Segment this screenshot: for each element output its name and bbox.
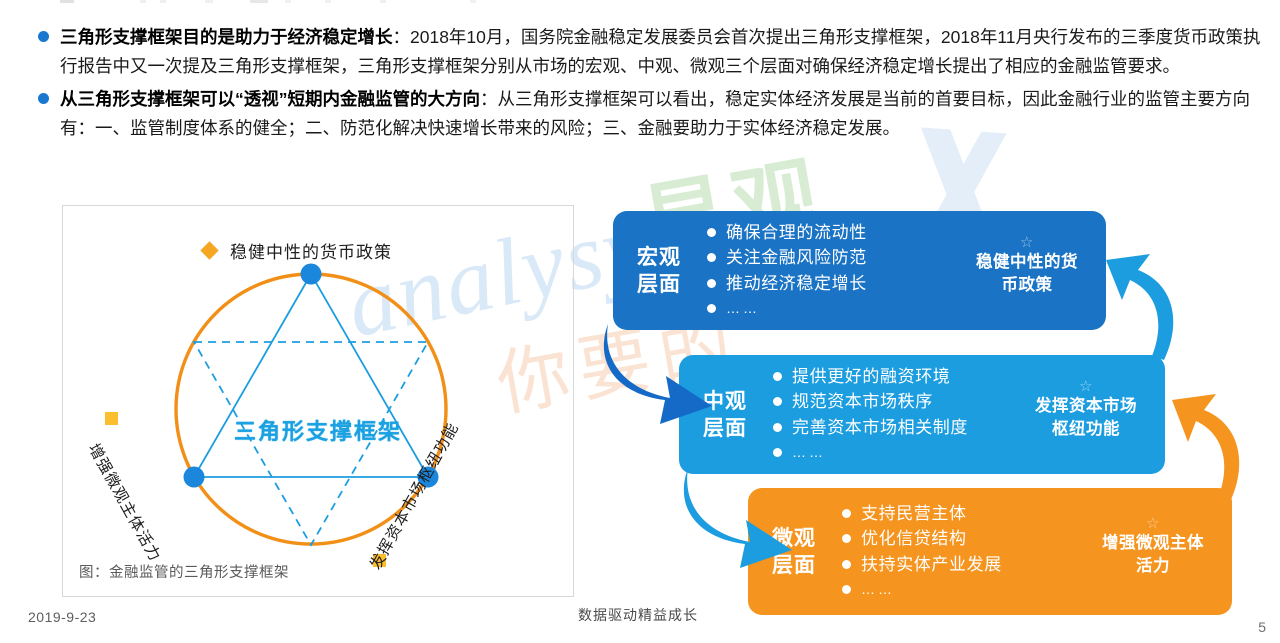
list-item: 确保合理的流动性 — [707, 220, 948, 246]
list-bullet-icon — [707, 279, 716, 288]
list-item: 扶持实体产业发展 — [842, 552, 1074, 578]
list-item: 支持民营主体 — [842, 501, 1074, 527]
top-divider — [0, 0, 1280, 3]
panel-macro[interactable]: 宏观 层面 确保合理的流动性 关注金融风险防范 推动经济稳定增长 …… ☆ 稳健… — [613, 211, 1106, 330]
arrow-micro-to-meso — [1168, 384, 1250, 506]
footer-tagline: 数据驱动精益成长 — [578, 605, 698, 625]
accent-square-left-icon — [105, 412, 118, 425]
bullet-text: 从三角形支撑框架可以“透视”短期内金融监管的大方向：从三角形支撑框架可以看出，稳… — [60, 85, 1263, 143]
list-item: 优化信贷结构 — [842, 526, 1074, 552]
star-icon: ☆ — [1146, 512, 1160, 535]
arrow-meso-to-macro — [1104, 244, 1184, 364]
list-item-label: 确保合理的流动性 — [726, 220, 867, 246]
panel-micro-key-line1: 增强微观主体 — [1074, 532, 1232, 555]
solid-triangle — [194, 274, 428, 477]
list-item-label: 推动经济稳定增长 — [726, 271, 867, 297]
list-item: 关注金融风险防范 — [707, 245, 948, 271]
list-item: …… — [842, 577, 1074, 603]
bullet-item: 从三角形支撑框架可以“透视”短期内金融监管的大方向：从三角形支撑框架可以看出，稳… — [38, 85, 1263, 143]
list-item: …… — [773, 440, 1007, 466]
bullet-dot-icon — [38, 93, 49, 104]
panel-meso-key-line1: 发挥资本市场 — [1007, 395, 1165, 418]
panel-macro-key: ☆ 稳健中性的货 币政策 — [948, 245, 1106, 297]
bullet-lead: 三角形支撑框架目的是助力于经济稳定增长 — [60, 27, 393, 47]
list-bullet-icon — [773, 423, 782, 432]
list-bullet-icon — [773, 448, 782, 457]
panel-macro-level-line2: 层面 — [619, 271, 699, 298]
bullet-lead: 从三角形支撑框架可以“透视”短期内金融监管的大方向 — [60, 89, 480, 109]
panel-meso-key: ☆ 发挥资本市场 枢纽功能 — [1007, 389, 1165, 441]
list-item: 完善资本市场相关制度 — [773, 415, 1007, 441]
list-bullet-icon — [707, 253, 716, 262]
panel-meso[interactable]: 中观 层面 提供更好的融资环境 规范资本市场秩序 完善资本市场相关制度 …… ☆… — [679, 355, 1165, 474]
list-item-label: …… — [726, 296, 760, 322]
arrow-meso-to-micro — [676, 462, 806, 574]
list-bullet-icon — [707, 304, 716, 313]
panel-micro-key: ☆ 增强微观主体 活力 — [1074, 526, 1232, 578]
figure-center-label: 三角形支撑框架 — [234, 414, 402, 446]
panel-macro-level: 宏观 层面 — [613, 244, 699, 298]
panel-macro-key-line1: 稳健中性的货 — [948, 251, 1106, 274]
list-bullet-icon — [707, 228, 716, 237]
list-item-label: 完善资本市场相关制度 — [792, 415, 968, 441]
star-icon: ☆ — [1020, 231, 1034, 254]
list-item: 推动经济稳定增长 — [707, 271, 948, 297]
bullet-text: 三角形支撑框架目的是助力于经济稳定增长：2018年10月，国务院金融稳定发展委员… — [60, 23, 1263, 81]
bullet-dot-icon — [38, 31, 49, 42]
list-item: 提供更好的融资环境 — [773, 364, 1007, 390]
panel-micro[interactable]: 微观 层面 支持民营主体 优化信贷结构 扶持实体产业发展 …… ☆ 增强微观主体… — [748, 488, 1232, 615]
panel-micro-items: 支持民营主体 优化信贷结构 扶持实体产业发展 …… — [834, 501, 1074, 603]
list-item-label: 规范资本市场秩序 — [792, 389, 933, 415]
list-item-label: 优化信贷结构 — [861, 526, 967, 552]
list-item: 规范资本市场秩序 — [773, 389, 1007, 415]
list-item-label: 支持民营主体 — [861, 501, 967, 527]
panel-macro-items: 确保合理的流动性 关注金融风险防范 推动经济稳定增长 …… — [699, 220, 948, 322]
figure-card: 稳健中性的货币政策 三角形支撑框架 增强微观主体活力 发挥资本市场枢纽功能 图：… — [62, 205, 574, 597]
list-bullet-icon — [842, 585, 851, 594]
list-item-label: 提供更好的融资环境 — [792, 364, 950, 390]
list-bullet-icon — [842, 560, 851, 569]
slide-canvas: analysys 易观 你要的 三角形支撑框架目的是助力于经济稳定增长：2018… — [0, 0, 1280, 643]
list-item-label: …… — [861, 577, 895, 603]
figure-caption: 图：金融监管的三角形支撑框架 — [79, 561, 289, 582]
panel-meso-items: 提供更好的融资环境 规范资本市场秩序 完善资本市场相关制度 …… — [765, 364, 1007, 466]
list-item-label: 关注金融风险防范 — [726, 245, 867, 271]
list-bullet-icon — [842, 534, 851, 543]
panel-macro-key-line2: 币政策 — [948, 274, 1106, 297]
list-item-label: 扶持实体产业发展 — [861, 552, 1002, 578]
list-item: …… — [707, 296, 948, 322]
footer-date: 2019-9-23 — [28, 609, 96, 625]
arrow-macro-to-meso — [596, 318, 726, 430]
list-bullet-icon — [842, 509, 851, 518]
vertex-node-left — [184, 467, 205, 488]
star-icon: ☆ — [1079, 375, 1093, 398]
bullet-list: 三角形支撑框架目的是助力于经济稳定增长：2018年10月，国务院金融稳定发展委员… — [38, 23, 1263, 147]
list-bullet-icon — [773, 397, 782, 406]
panel-micro-key-line2: 活力 — [1074, 555, 1232, 578]
list-bullet-icon — [773, 372, 782, 381]
panel-meso-key-line2: 枢纽功能 — [1007, 418, 1165, 441]
panel-macro-level-line1: 宏观 — [619, 244, 699, 271]
page-number: 5 — [1258, 619, 1266, 635]
vertex-node-top — [301, 264, 322, 285]
bullet-item: 三角形支撑框架目的是助力于经济稳定增长：2018年10月，国务院金融稳定发展委员… — [38, 23, 1263, 81]
